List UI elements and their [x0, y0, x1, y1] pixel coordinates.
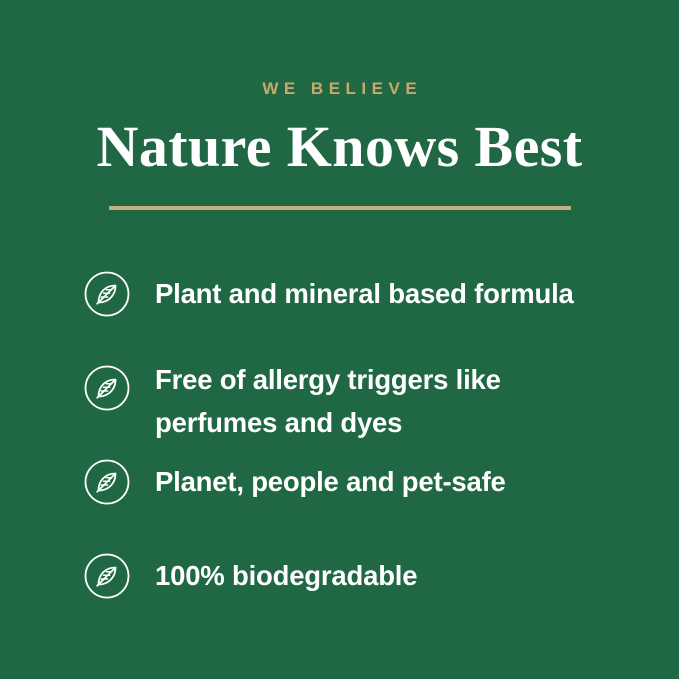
- list-item-label: Free of allergy triggers like perfumes a…: [155, 346, 679, 444]
- leaf-in-circle-icon: [83, 552, 131, 600]
- list-item: Planet, people and pet-safe: [0, 440, 679, 534]
- gold-divider-rule: [109, 206, 571, 210]
- page-title: Nature Knows Best: [0, 114, 679, 180]
- list-item: Free of allergy triggers like perfumes a…: [0, 346, 679, 440]
- list-item: Plant and mineral based formula: [0, 252, 679, 346]
- poster-header: WE BELIEVE Nature Knows Best: [0, 0, 679, 210]
- eyebrow-label: WE BELIEVE: [0, 78, 679, 100]
- divider-container: [0, 206, 679, 210]
- leaf-in-circle-icon: [83, 270, 131, 318]
- list-item-label: Planet, people and pet-safe: [155, 440, 679, 503]
- leaf-in-circle-icon: [83, 458, 131, 506]
- leaf-in-circle-icon: [83, 364, 131, 412]
- list-item-label: 100% biodegradable: [155, 534, 679, 597]
- brand-benefits-poster: WE BELIEVE Nature Knows Best Plant and m…: [0, 0, 679, 679]
- list-item-label: Plant and mineral based formula: [155, 252, 679, 315]
- list-item: 100% biodegradable: [0, 534, 679, 628]
- benefits-list: Plant and mineral based formula Free of …: [0, 252, 679, 628]
